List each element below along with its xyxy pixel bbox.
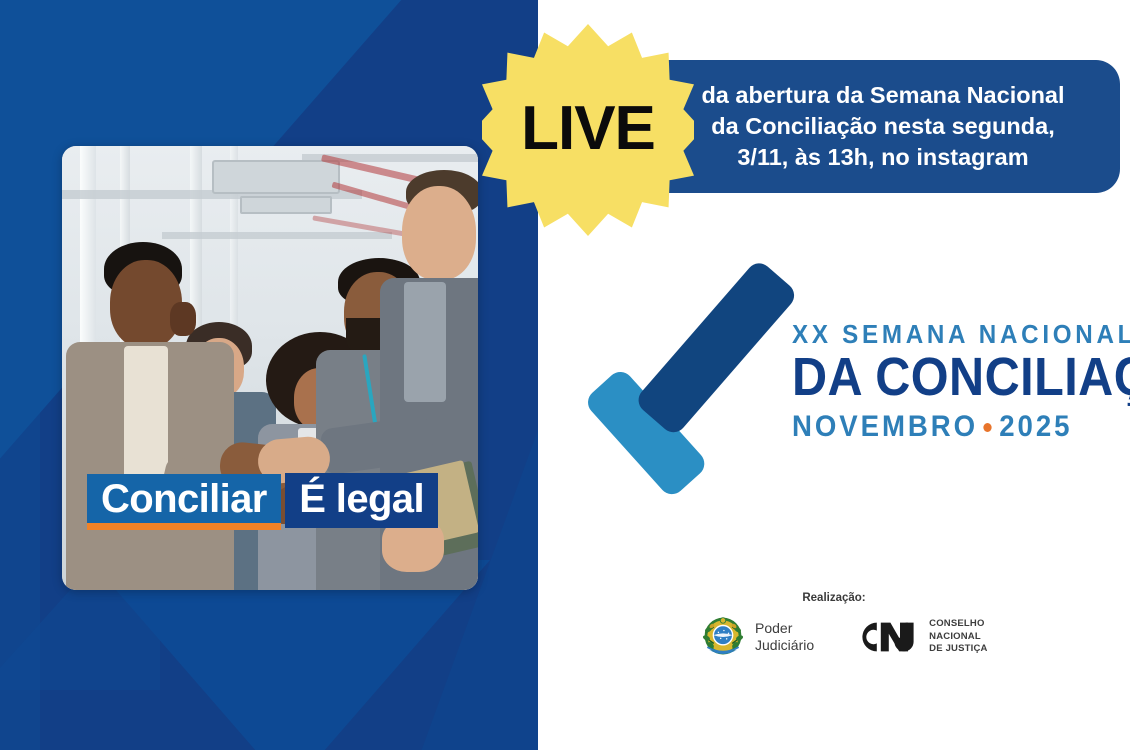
event-logo-year: 2025 xyxy=(999,411,1072,443)
cnj-logo: CONSELHO NACIONAL DE JUSTIÇA xyxy=(856,617,987,657)
photo-ceiling-vent xyxy=(212,160,340,194)
caption-e-legal-text: É legal xyxy=(299,477,424,521)
event-logo-month: NOVEMBRO xyxy=(792,411,978,443)
caption-e-legal-box: É legal xyxy=(285,473,438,528)
live-message-text: da abertura da Semana Nacional da Concil… xyxy=(637,80,1078,174)
poder-judiciario-label: Poder Judiciário xyxy=(755,620,814,654)
live-badge: LIVE xyxy=(482,24,694,236)
cnj-label: CONSELHO NACIONAL DE JUSTIÇA xyxy=(929,618,987,656)
checkmark-long-stroke xyxy=(633,258,799,437)
event-logo-line-semana-nacional: XX SEMANA NACIONAL xyxy=(792,321,1130,348)
photo-ceiling-beam xyxy=(162,232,392,239)
left-blue-panel: Conciliar É legal xyxy=(0,0,538,750)
caption-conciliar-box: Conciliar xyxy=(87,474,281,530)
footer-logos: Poder Judiciário CONSELHO NACIONAL DE JU… xyxy=(596,614,1066,660)
cnj-monogram-icon xyxy=(856,617,920,657)
photo-card: Conciliar É legal xyxy=(62,146,478,590)
live-badge-label: LIVE xyxy=(482,24,694,236)
caption-conciliar-text: Conciliar xyxy=(101,477,267,521)
realizacao-label: Realização: xyxy=(674,592,994,604)
photo-caption-overlay: Conciliar É legal xyxy=(87,473,438,530)
checkmark-icon xyxy=(596,300,786,465)
poder-judiciario-logo: Poder Judiciário xyxy=(700,614,814,660)
event-logo-line-da-conciliacao: DA CONCILIAÇÃO xyxy=(792,350,1130,405)
photo-ceiling-vent xyxy=(240,196,332,214)
event-logo-wordmark: XX SEMANA NACIONAL DA CONCILIAÇÃO NOVEMB… xyxy=(786,321,1130,443)
event-logo: XX SEMANA NACIONAL DA CONCILIAÇÃO NOVEMB… xyxy=(596,292,1096,472)
separator-dot-icon xyxy=(984,423,992,432)
photo-person-left-foreground xyxy=(66,242,234,590)
event-logo-line-date: NOVEMBRO 2025 xyxy=(792,411,1130,443)
brasao-nacional-icon xyxy=(700,614,746,660)
footer: Realização: xyxy=(596,592,1066,660)
